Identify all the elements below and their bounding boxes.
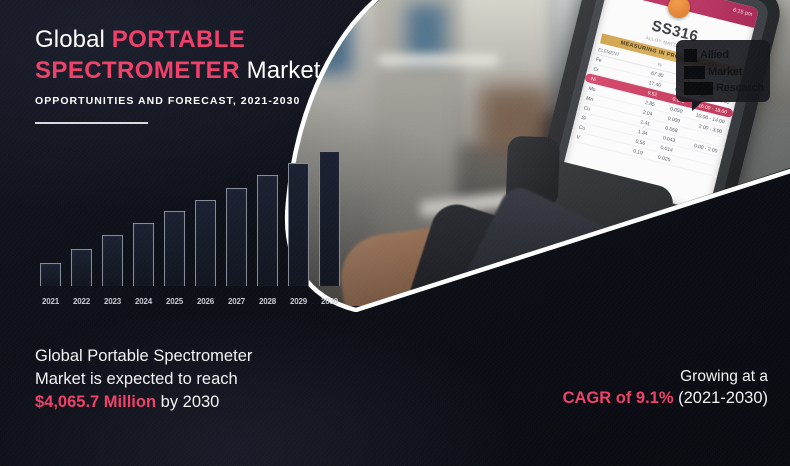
- logo-bar-icon: [684, 82, 713, 95]
- chart-bar-slot: [66, 148, 97, 286]
- chart-x-label: 2025: [159, 297, 190, 306]
- logo-row: Market: [684, 66, 764, 79]
- chart-x-label: 2021: [35, 297, 66, 306]
- chart-bar: [226, 188, 247, 286]
- chart-x-label: 2024: [128, 297, 159, 306]
- title-divider: [35, 122, 148, 124]
- title-bold-spectrometer: SPECTROMETER: [35, 57, 240, 84]
- statement-amount: $4,065.7 Million: [35, 393, 156, 411]
- chart-x-label: 2023: [97, 297, 128, 306]
- chart-bar-slot: [252, 148, 283, 286]
- chart-x-label: 2026: [190, 297, 221, 306]
- logo-line-3: Research: [716, 83, 764, 94]
- chart-x-label: 2028: [252, 297, 283, 306]
- subtitle: OPPORTUNITIES AND FORECAST, 2021-2030: [35, 95, 300, 107]
- chart-bar: [40, 263, 61, 286]
- cagr-growing-label: Growing at a: [563, 366, 768, 387]
- statement-suffix: by 2030: [156, 393, 219, 411]
- cagr-value: CAGR of 9.1%: [563, 389, 674, 407]
- chart-bar: [288, 163, 309, 286]
- chart-x-label: 2022: [66, 297, 97, 306]
- logo-row: Research: [684, 82, 764, 95]
- page-title: Global PORTABLE SPECTROMETER Market: [35, 24, 365, 86]
- chart-bar-slot: [221, 148, 252, 286]
- allied-market-research-logo[interactable]: Allied Market Research: [676, 40, 770, 102]
- statement-line-1: Global Portable Spectrometer: [35, 345, 355, 368]
- chart-bar-slot: [35, 148, 66, 286]
- logo-line-2: Market: [708, 67, 742, 78]
- chart-bars: [35, 148, 345, 286]
- title-plain-global: Global: [35, 26, 112, 53]
- logo-bubble-tail: [692, 101, 703, 111]
- cagr-block: Growing at a CAGR of 9.1% (2021-2030): [563, 366, 768, 410]
- cagr-value-line: CAGR of 9.1% (2021-2030): [563, 387, 768, 410]
- chart-bar: [133, 223, 154, 286]
- chart-bar-slot: [128, 148, 159, 286]
- chart-bar: [102, 235, 123, 286]
- cagr-period: (2021-2030): [674, 389, 768, 407]
- chart-bar-slot: [159, 148, 190, 286]
- title-line-1: Global PORTABLE: [35, 24, 365, 55]
- market-statement: Global Portable Spectrometer Market is e…: [35, 345, 355, 414]
- chart-x-axis-labels: 2021202220232024202520262027202820292030: [35, 297, 345, 306]
- logo-row: Allied: [684, 49, 764, 62]
- chart-bar: [257, 175, 278, 286]
- chart-bar-slot: [190, 148, 221, 286]
- chart-bar-slot: [283, 148, 314, 286]
- title-plain-market: Market: [240, 57, 321, 84]
- chart-bar: [71, 249, 92, 286]
- logo-bar-icon: [684, 49, 697, 62]
- chart-x-label: 2030: [314, 297, 345, 306]
- chart-bar-slot: [314, 148, 345, 286]
- chart-bar: [164, 211, 185, 286]
- chart-bar: [195, 200, 216, 286]
- market-forecast-bar-chart: 2021202220232024202520262027202820292030: [35, 148, 345, 308]
- chart-bar-slot: [97, 148, 128, 286]
- title-line-2: SPECTROMETER Market: [35, 55, 365, 86]
- logo-rows: Allied Market Research: [684, 49, 764, 95]
- chart-x-label: 2029: [283, 297, 314, 306]
- title-bold-portable: PORTABLE: [112, 26, 245, 53]
- statement-line-2: Market is expected to reach: [35, 368, 355, 391]
- statement-line-3: $4,065.7 Million by 2030: [35, 391, 355, 414]
- infographic-canvas: SS316 Elite 6:15 pm SS316 ALLOY MATCH 1 …: [0, 0, 790, 466]
- logo-line-1: Allied: [700, 50, 729, 61]
- logo-bar-icon: [684, 66, 705, 79]
- chart-bar: [319, 151, 340, 286]
- chart-x-label: 2027: [221, 297, 252, 306]
